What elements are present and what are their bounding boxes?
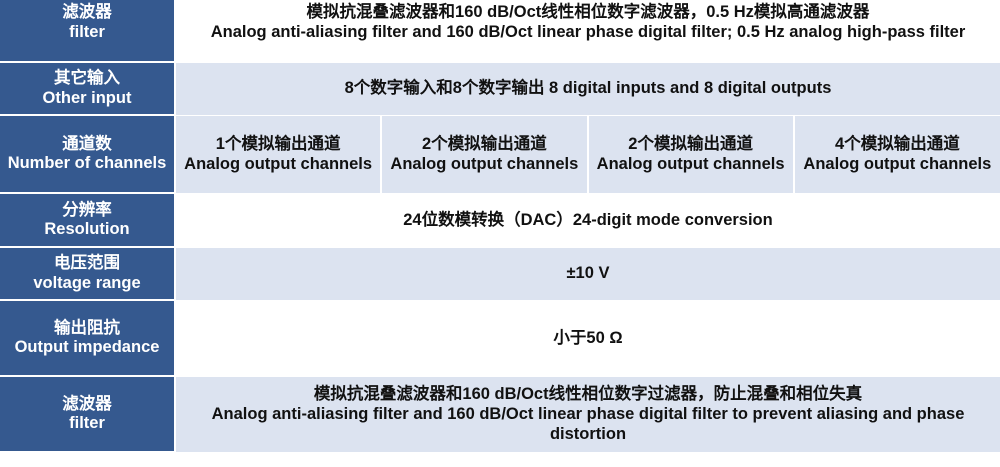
channel-cell-4: 4个模拟输出通道 Analog output channels — [794, 115, 1000, 193]
row-header-label-cn: 分辨率 — [4, 201, 170, 220]
table-row-output-impedance: 输出阻抗 Output impedance 小于50 Ω — [0, 300, 1000, 376]
channel-cell-1: 1个模拟输出通道 Analog output channels — [175, 115, 381, 193]
row-value-text: 小于50 Ω — [184, 328, 992, 348]
row-header-other-input: 其它输入 Other input — [0, 62, 175, 115]
row-value-en: Analog anti-aliasing filter and 160 dB/O… — [184, 404, 992, 444]
page-bottom-whitespace — [0, 453, 1000, 467]
row-value-other-input: 8个数字输入和8个数字输出 8 digital inputs and 8 dig… — [175, 62, 1000, 115]
channel-cell-en: Analog output channels — [799, 154, 996, 174]
row-value-filter-bottom: 模拟抗混叠滤波器和160 dB/Oct线性相位数字过滤器，防止混叠和相位失真 A… — [175, 376, 1000, 452]
row-value-filter-top: 模拟抗混叠滤波器和160 dB/Oct线性相位数字滤波器，0.5 Hz模拟高通滤… — [175, 0, 1000, 62]
row-header-label-en: filter — [4, 414, 170, 433]
row-header-label-cn: 电压范围 — [4, 254, 170, 273]
row-value-resolution: 24位数模转换（DAC）24-digit mode conversion — [175, 193, 1000, 247]
table-row-number-of-channels: 通道数 Number of channels 1个模拟输出通道 Analog o… — [0, 115, 1000, 193]
row-value-cn: 模拟抗混叠滤波器和160 dB/Oct线性相位数字过滤器，防止混叠和相位失真 — [184, 384, 992, 404]
channel-cell-cn: 2个模拟输出通道 — [386, 134, 582, 154]
row-header-label-cn: 其它输入 — [4, 69, 170, 88]
row-value-cn: 模拟抗混叠滤波器和160 dB/Oct线性相位数字滤波器，0.5 Hz模拟高通滤… — [184, 2, 992, 22]
channel-cell-2: 2个模拟输出通道 Analog output channels — [381, 115, 587, 193]
row-value-text: 8个数字输入和8个数字输出 8 digital inputs and 8 dig… — [184, 78, 992, 98]
row-header-output-impedance: 输出阻抗 Output impedance — [0, 300, 175, 376]
channel-cell-en: Analog output channels — [180, 154, 376, 174]
channel-cell-en: Analog output channels — [593, 154, 789, 174]
channel-cell-en: Analog output channels — [386, 154, 582, 174]
row-value-text: ±10 V — [184, 263, 992, 283]
row-header-label-en: Other input — [4, 89, 170, 108]
row-header-label-en: Number of channels — [4, 154, 170, 173]
row-header-number-of-channels: 通道数 Number of channels — [0, 115, 175, 193]
channel-cell-cn: 4个模拟输出通道 — [799, 134, 996, 154]
row-value-voltage-range: ±10 V — [175, 247, 1000, 300]
channel-cell-3: 2个模拟输出通道 Analog output channels — [588, 115, 794, 193]
row-header-filter-bottom: 滤波器 filter — [0, 376, 175, 452]
table-row-filter-bottom: 滤波器 filter 模拟抗混叠滤波器和160 dB/Oct线性相位数字过滤器，… — [0, 376, 1000, 452]
row-header-label-en: Output impedance — [4, 338, 170, 357]
table-row-filter-top: 滤波器 filter 模拟抗混叠滤波器和160 dB/Oct线性相位数字滤波器，… — [0, 0, 1000, 62]
row-header-label-en: voltage range — [4, 274, 170, 293]
row-header-resolution: 分辨率 Resolution — [0, 193, 175, 247]
table-row-voltage-range: 电压范围 voltage range ±10 V — [0, 247, 1000, 300]
row-value-en: Analog anti-aliasing filter and 160 dB/O… — [184, 22, 992, 42]
row-header-voltage-range: 电压范围 voltage range — [0, 247, 175, 300]
row-value-text: 24位数模转换（DAC）24-digit mode conversion — [184, 210, 992, 230]
row-header-label-en: Resolution — [4, 220, 170, 239]
channel-cell-cn: 1个模拟输出通道 — [180, 134, 376, 154]
channel-cell-cn: 2个模拟输出通道 — [593, 134, 789, 154]
specification-table: 滤波器 filter 模拟抗混叠滤波器和160 dB/Oct线性相位数字滤波器，… — [0, 0, 1000, 453]
row-header-label-cn: 滤波器 — [4, 3, 170, 22]
row-header-label-cn: 输出阻抗 — [4, 319, 170, 338]
row-header-label-cn: 滤波器 — [4, 395, 170, 414]
row-header-label-cn: 通道数 — [4, 135, 170, 154]
table-row-other-input: 其它输入 Other input 8个数字输入和8个数字输出 8 digital… — [0, 62, 1000, 115]
table-row-resolution: 分辨率 Resolution 24位数模转换（DAC）24-digit mode… — [0, 193, 1000, 247]
row-header-filter-top: 滤波器 filter — [0, 0, 175, 62]
row-header-label-en: filter — [4, 23, 170, 42]
row-value-output-impedance: 小于50 Ω — [175, 300, 1000, 376]
